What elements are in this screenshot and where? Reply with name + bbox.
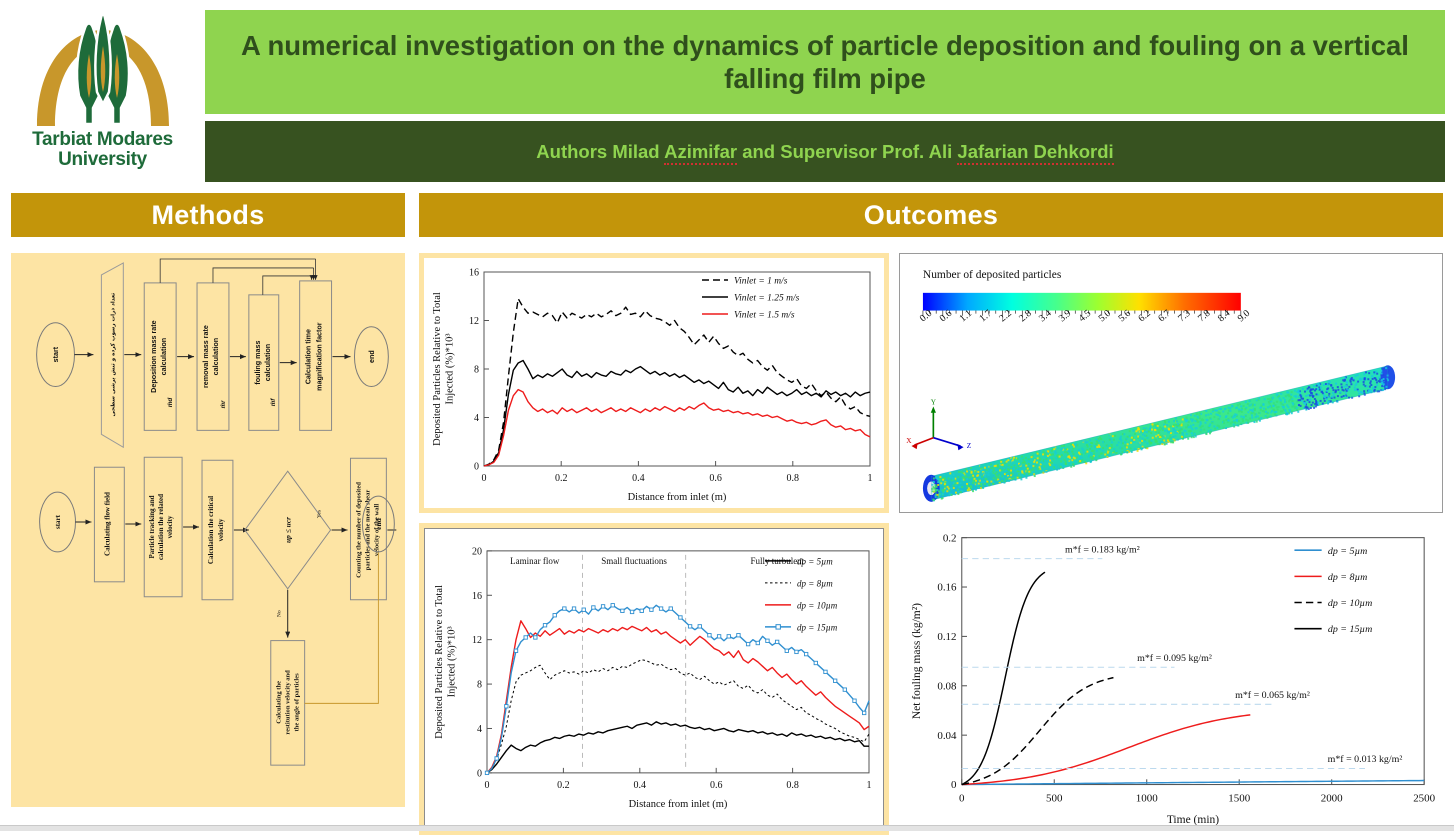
legend-label-0: dp = 5µm	[797, 556, 833, 566]
page-title: A numerical investigation on the dynamic…	[231, 29, 1419, 95]
y-tick-label: 4	[474, 413, 479, 424]
axis-label-x: X	[906, 437, 912, 445]
y-tick-label: 0	[951, 779, 957, 791]
y-tick-label: 0.04	[937, 730, 957, 742]
y-axis-label: Net fouling mass (kg/m²)	[911, 603, 923, 719]
x-tick-label: 1000	[1136, 792, 1158, 804]
chart-velocity-frame: 00.20.40.60.810481216Distance from inlet…	[419, 253, 889, 513]
poster-header: Tarbiat Modares University A numerical i…	[0, 0, 1454, 190]
author-name-1: Azimifar	[664, 141, 737, 165]
x-tick-label: 0.4	[634, 780, 647, 791]
axis-label-z: Z	[967, 442, 972, 450]
fc-bot-step2-line3: velocity	[166, 515, 174, 538]
pipe-contour-title: Number of deposited particles	[923, 269, 1062, 281]
annotation-3: m*f = 0.013 kg/m²	[1328, 754, 1403, 765]
x-tick-label: 0.8	[786, 780, 799, 791]
chart-pipe-contour: Number of deposited particles	[900, 254, 1442, 512]
y-tick-label: 0.12	[937, 631, 956, 643]
fc-bot-yesbox-line2: particles and the mean shear	[364, 490, 371, 571]
svg-text:Injected (%)*10³: Injected (%)*10³	[446, 626, 457, 697]
svg-text:Deposited Particles Relative t: Deposited Particles Relative to Total	[432, 292, 443, 446]
fc-top-step3-symbol: ṁf	[270, 398, 277, 406]
annotation-0: m*f = 0.183 kg/m²	[1065, 544, 1140, 555]
chart-particle-size-frame: 00.20.40.60.81048121620Distance from inl…	[419, 523, 889, 835]
fc-top-step1-line1: Deposition mass rate	[150, 320, 158, 392]
x-tick-label: 0	[485, 780, 490, 791]
author-band: Authors Milad Azimifar and Supervisor Pr…	[205, 121, 1445, 182]
chart-velocity: 00.20.40.60.810481216Distance from inlet…	[424, 258, 884, 508]
methods-panel: start تعداد ذرات رسوب کرده و تنش برشی سط…	[11, 253, 405, 807]
flowchart-deposition: start تعداد ذرات رسوب کرده و تنش برشی سط…	[37, 259, 389, 447]
legend-label-3: dp = 15µm	[1328, 624, 1372, 635]
section-title-methods: Methods	[151, 200, 264, 231]
fc-top-step2-symbol: ṁr	[220, 400, 227, 408]
fc-bot-start-label: start	[54, 514, 62, 529]
fc-bot-decision-label: up ≤ ucr	[283, 517, 292, 543]
poster-body: start تعداد ذرات رسوب کرده و تنش برشی سط…	[0, 237, 1454, 807]
y-tick-label: 8	[477, 680, 482, 691]
chart-particle-size: 00.20.40.60.81048121620Distance from inl…	[425, 529, 883, 829]
legend-label-3: dp = 15µm	[797, 622, 838, 632]
y-tick-label: 12	[469, 316, 479, 327]
fc-bot-yesbox-line1: Counting the number of deposited	[355, 482, 362, 578]
authors-line: Authors Milad Azimifar and Supervisor Pr…	[536, 141, 1113, 163]
fc-top-input-label: تعداد ذرات رسوب کرده و تنش برشی سطحی	[109, 293, 116, 417]
outcomes-panel: 00.20.40.60.810481216Distance from inlet…	[419, 253, 1443, 807]
fc-bot-nobox-line1: Calculating the	[276, 681, 283, 724]
fc-bot-end-label: end	[374, 517, 383, 529]
methods-flowcharts: start تعداد ذرات رسوب کرده و تنش برشی سط…	[11, 253, 405, 807]
legend-label-1: dp = 8µm	[797, 578, 833, 588]
y-tick-label: 4	[477, 724, 482, 735]
x-tick-label: 0	[482, 473, 487, 484]
annotation-2: m*f = 0.065 kg/m²	[1235, 690, 1310, 701]
y-tick-label: 12	[472, 635, 482, 646]
x-tick-label: 1	[868, 473, 873, 484]
authors-mid: and Supervisor Prof. Ali	[737, 141, 957, 162]
legend-label-2: dp = 10µm	[1328, 598, 1372, 609]
fc-top-step2-line2: calculation	[212, 338, 220, 375]
logo-line-1: Tarbiat Modares	[32, 130, 173, 150]
x-axis-label: Distance from inlet (m)	[629, 799, 728, 810]
svg-text:Deposited Particles Relative t: Deposited Particles Relative to Total	[434, 585, 445, 739]
region-label-0: Laminar flow	[510, 556, 560, 566]
fc-bot-step2-line2: calculation the related	[157, 494, 165, 560]
fc-top-step4-line1: Calculation time	[305, 329, 313, 384]
bottom-divider	[0, 825, 1454, 831]
fc-bot-no-label: No	[277, 610, 283, 617]
y-tick-label: 8	[474, 365, 479, 376]
fc-top-step2-line1: removal mass rate	[202, 325, 210, 388]
fc-top-step1-symbol: ṁd	[167, 398, 174, 408]
fc-bot-nobox-line2: restitution velocity and	[285, 670, 292, 735]
region-label-1: Small fluctuations	[601, 556, 667, 566]
x-tick-label: 0.6	[710, 780, 723, 791]
fc-bot-yes-label: Yes	[317, 510, 323, 518]
outcomes-row-top: 00.20.40.60.810481216Distance from inlet…	[419, 253, 1443, 513]
section-header-methods: Methods	[11, 193, 405, 237]
legend-label-2: Vinlet = 1.5 m/s	[734, 310, 795, 320]
chart-fouling-mass: 0500100015002000250000.040.080.120.160.2…	[899, 523, 1443, 835]
x-tick-label: 0.6	[709, 473, 722, 484]
logo-line-2: University	[58, 150, 147, 170]
chart-fouling-mass-canvas: 0500100015002000250000.040.080.120.160.2…	[899, 523, 1443, 835]
legend-label-1: dp = 8µm	[1328, 572, 1367, 583]
y-tick-label: 16	[469, 268, 479, 279]
outcomes-row-bottom: 00.20.40.60.81048121620Distance from inl…	[419, 523, 1443, 835]
fc-bot-step1-line1: Calculating flow field	[103, 492, 111, 556]
chart-particle-size-canvas: 00.20.40.60.81048121620Distance from inl…	[424, 528, 884, 830]
title-band: A numerical investigation on the dynamic…	[205, 10, 1445, 114]
authors-prefix: Authors Milad	[536, 141, 664, 162]
fc-top-start-label: start	[52, 346, 60, 362]
axis-label-y: Y	[931, 398, 937, 406]
flowchart-particle-tracking: start Calculating flow field Particle tr…	[40, 457, 397, 765]
tarbiat-modares-logo-icon	[23, 12, 183, 130]
fc-bot-step2-line1: Particle tracking and	[148, 495, 156, 558]
x-tick-label: 0.2	[557, 780, 570, 791]
x-axis-label: Distance from inlet (m)	[628, 492, 727, 503]
chart-fouling-mass-frame: 0500100015002000250000.040.080.120.160.2…	[899, 523, 1443, 835]
section-header-outcomes: Outcomes	[419, 193, 1443, 237]
fc-top-step3-line1: fouling mass	[254, 341, 262, 385]
x-tick-label: 0.2	[555, 473, 568, 484]
x-tick-label: 0.8	[787, 473, 800, 484]
fc-top-end-label: end	[368, 350, 376, 363]
header-text-zone: A numerical investigation on the dynamic…	[205, 0, 1454, 190]
x-tick-label: 2000	[1321, 792, 1343, 804]
logo-zone: Tarbiat Modares University	[0, 0, 205, 190]
y-tick-label: 20	[472, 546, 482, 557]
chart-velocity-canvas: 00.20.40.60.810481216Distance from inlet…	[424, 258, 884, 508]
fc-top-step4-line2: magnification factor	[316, 322, 324, 391]
legend-label-2: dp = 10µm	[797, 600, 838, 610]
y-tick-label: 0	[474, 462, 479, 473]
y-tick-label: 16	[472, 591, 482, 602]
y-tick-label: 0.16	[937, 582, 957, 594]
section-header-row: Methods Outcomes	[0, 193, 1454, 237]
x-tick-label: 1	[867, 780, 872, 791]
x-tick-label: 0.4	[632, 473, 645, 484]
x-tick-label: 500	[1046, 792, 1063, 804]
legend-label-0: dp = 5µm	[1328, 546, 1367, 557]
legend-label-1: Vinlet = 1.25 m/s	[734, 293, 800, 303]
author-name-2: Jafarian Dehkordi	[957, 141, 1113, 165]
x-tick-label: 2500	[1413, 792, 1435, 804]
legend-label-0: Vinlet = 1 m/s	[734, 276, 788, 286]
y-tick-label: 0.08	[937, 680, 957, 692]
y-tick-label: 0	[477, 768, 482, 779]
y-tick-label: 0.2	[943, 532, 957, 544]
x-tick-label: 1500	[1228, 792, 1250, 804]
fc-bot-step3-line1: Calculation the critical	[207, 496, 215, 564]
x-tick-label: 0	[959, 792, 965, 804]
fc-bot-nobox-line3: the angle of particles	[294, 673, 301, 732]
section-title-outcomes: Outcomes	[864, 200, 998, 231]
svg-text:Injected (%)*10³: Injected (%)*10³	[444, 333, 455, 404]
pipe-contour-frame: Number of deposited particles	[899, 253, 1443, 513]
annotation-1: m*f = 0.095 kg/m²	[1137, 653, 1212, 664]
fc-top-step1-line2: calculation	[160, 338, 168, 375]
fc-bot-step3-line2: velocity	[217, 518, 225, 541]
fc-top-step3-line2: calculation	[264, 344, 272, 381]
